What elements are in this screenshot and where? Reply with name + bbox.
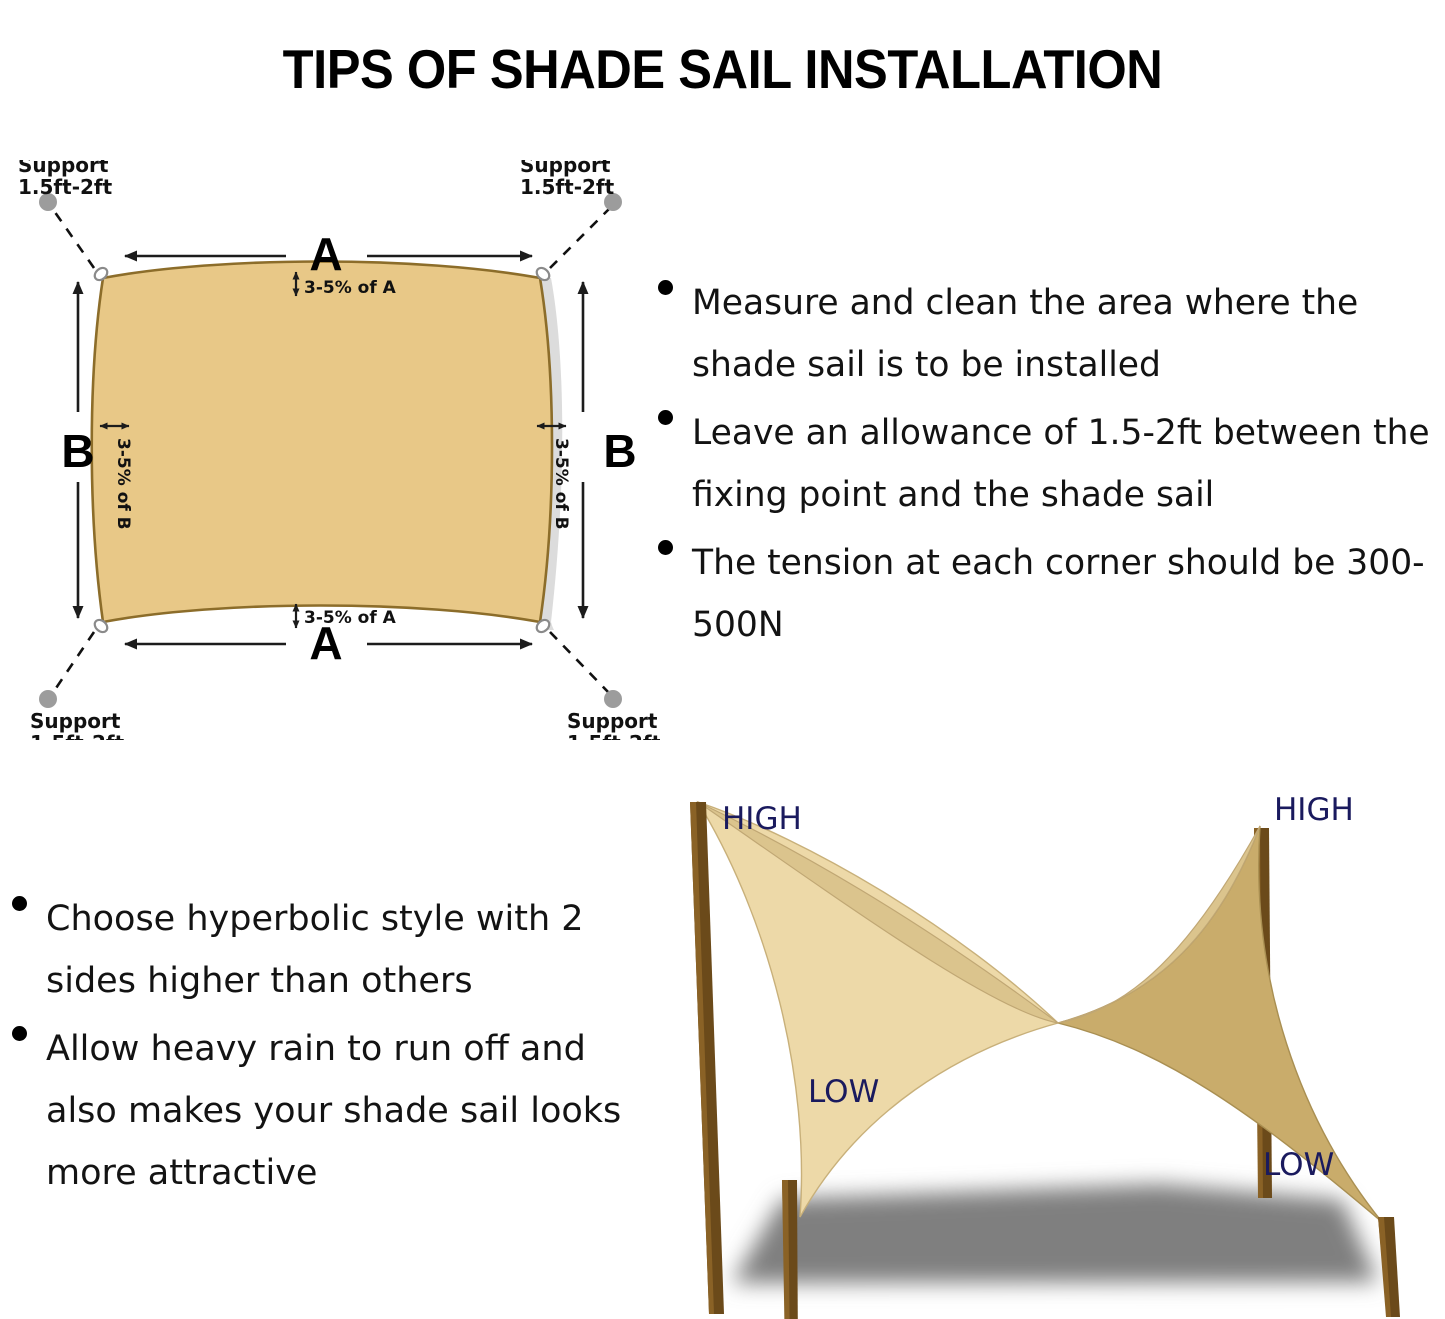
page-title: TIPS OF SHADE SAIL INSTALLATION <box>58 39 1387 99</box>
post-low-left <box>782 1180 798 1319</box>
list-item-label: Leave an allowance of 1.5-2ft between th… <box>692 402 1445 526</box>
bullet-dot-icon <box>658 280 673 295</box>
list-item: Leave an allowance of 1.5-2ft between th… <box>648 402 1445 526</box>
list-item-label: Choose hyperbolic style with 2 sides hig… <box>46 888 627 1012</box>
bullet-dot-icon <box>12 1026 27 1041</box>
dimension-arrow-height-left: B <box>61 282 94 618</box>
support-label-bottom-right-line1: Support <box>567 709 658 733</box>
dimension-label-height-right: B <box>603 425 636 477</box>
curve-callout-right-label: 3-5% of B <box>551 438 571 530</box>
post-low-right <box>1378 1217 1400 1317</box>
sail-panel-near <box>698 802 1058 1217</box>
sail-plan-diagram: Support 1.5ft-2ft Support 1.5ft-2ft Supp… <box>0 160 660 740</box>
support-label-top-right-line2: 1.5ft-2ft <box>520 175 615 199</box>
list-item-label: The tension at each corner should be 300… <box>692 532 1445 656</box>
post-high-left <box>690 802 724 1314</box>
support-label-bottom-right-line2: 1.5ft-2ft <box>567 731 660 740</box>
shade-sail-shape <box>92 262 552 623</box>
bullet-dot-icon <box>658 410 673 425</box>
post-label-low-left: LOW <box>808 1074 879 1110</box>
post-label-high-left: HIGH <box>722 801 802 837</box>
dimension-label-width-top: A <box>309 228 342 280</box>
list-item: Choose hyperbolic style with 2 sides hig… <box>2 888 627 1012</box>
list-item: Allow heavy rain to run off and also mak… <box>2 1018 627 1204</box>
curve-callout-bottom-label: 3-5% of A <box>304 608 397 628</box>
list-item-label: Allow heavy rain to run off and also mak… <box>46 1018 627 1204</box>
support-label-bottom-left-line2: 1.5ft-2ft <box>30 731 125 740</box>
installation-tips-list-bottom: Choose hyperbolic style with 2 sides hig… <box>2 888 627 1210</box>
hyperbolic-sail-illustration: HIGH HIGH LOW LOW <box>660 780 1445 1319</box>
post-label-low-right: LOW <box>1263 1147 1334 1183</box>
dimension-arrow-height-right: B <box>583 282 637 618</box>
curve-callout-left-label: 3-5% of B <box>113 438 133 530</box>
ground-shadow <box>732 1184 1378 1283</box>
dimension-label-height-left: B <box>61 425 94 477</box>
curve-callout-bottom: 3-5% of A <box>296 604 397 628</box>
list-item-label: Measure and clean the area where the sha… <box>692 272 1445 396</box>
bullet-dot-icon <box>12 896 27 911</box>
post-label-high-right: HIGH <box>1274 792 1354 828</box>
list-item: The tension at each corner should be 300… <box>648 532 1445 656</box>
curve-callout-top-label: 3-5% of A <box>304 278 397 298</box>
support-label-bottom-left-line1: Support <box>30 709 121 733</box>
bullet-dot-icon <box>658 540 673 555</box>
installation-tips-list-top: Measure and clean the area where the sha… <box>648 272 1445 662</box>
support-label-top-left-line2: 1.5ft-2ft <box>18 175 113 199</box>
list-item: Measure and clean the area where the sha… <box>648 272 1445 396</box>
